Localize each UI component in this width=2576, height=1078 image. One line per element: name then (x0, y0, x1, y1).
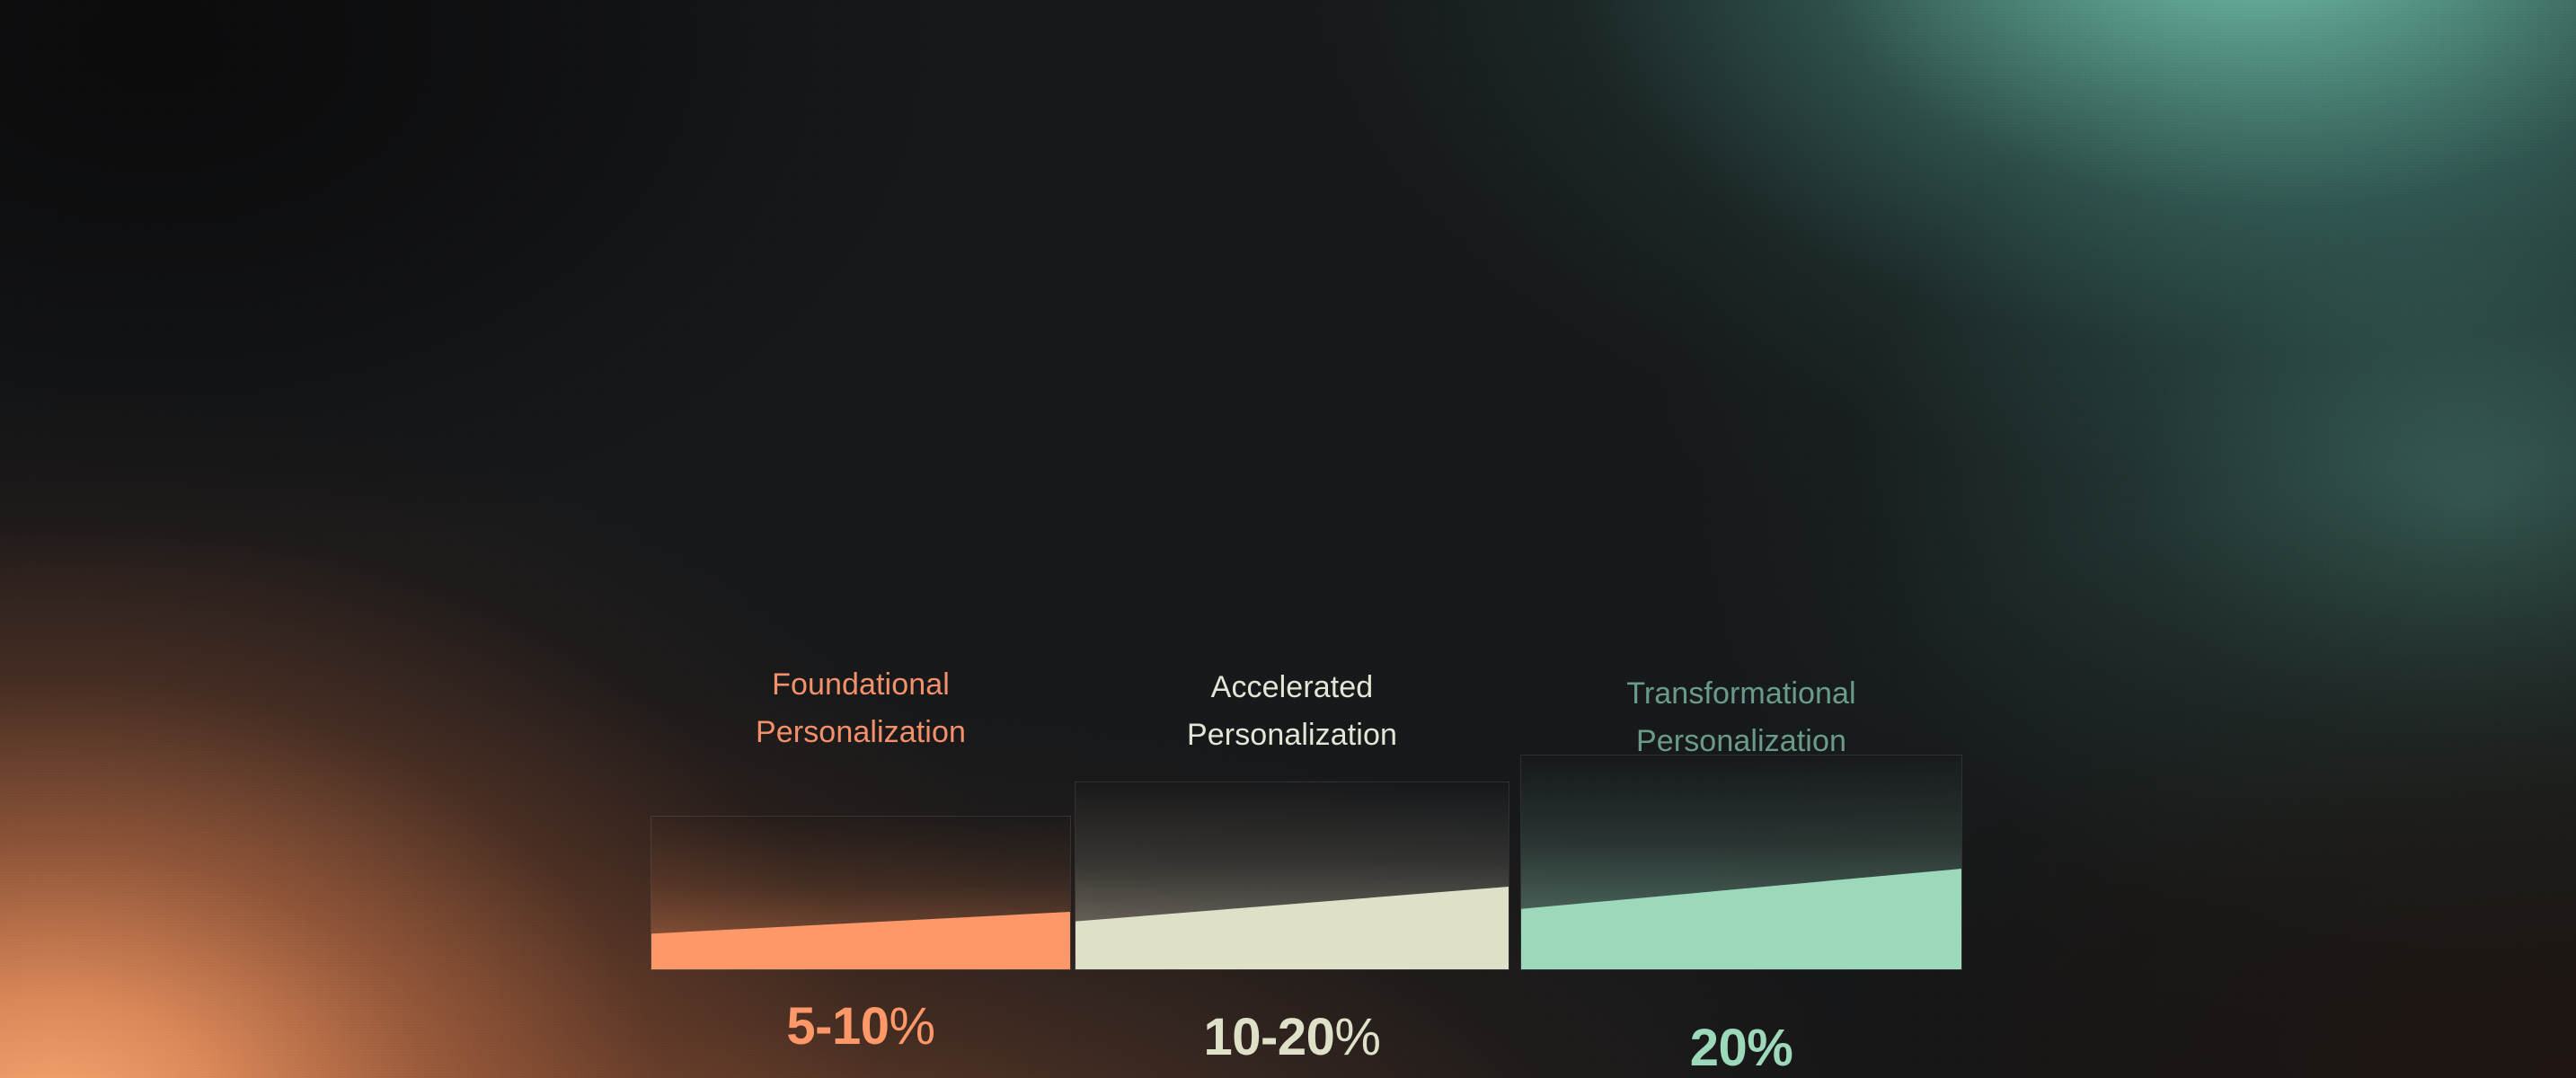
slide-canvas: Foundational Personalization 5-10% Accel… (0, 0, 2576, 1078)
bar-value-number-foundational: 5-10 (786, 997, 889, 1056)
bar-label-transformational: Transformational Personalization (1535, 670, 1948, 765)
bar-fill-foundational (651, 816, 1071, 970)
bar-value-accelerated: 10-20% (1058, 1012, 1526, 1064)
bar-value-foundational: 5-10% (627, 1001, 1094, 1053)
bar-fill-transformational (1520, 755, 1962, 970)
bar-value-number-transformational: 20 (1690, 1019, 1748, 1077)
bar-value-percent-transformational: % (1747, 1019, 1793, 1077)
bar-fill-accelerated (1075, 782, 1509, 970)
bar-value-number-accelerated: 10-20 (1204, 1008, 1335, 1066)
chart-bar-accelerated[interactable]: Accelerated Personalization 10-20% (1075, 641, 1509, 970)
bar-label-accelerated: Accelerated Personalization (1085, 664, 1499, 759)
chart-bar-transformational[interactable]: Transformational Personalization 20% (1520, 641, 1962, 970)
bar-value-percent-accelerated: % (1334, 1008, 1380, 1066)
bar-label-foundational: Foundational Personalization (654, 661, 1067, 756)
personalization-maturity-chart: Foundational Personalization 5-10% Accel… (651, 467, 1962, 970)
bar-value-percent-foundational: % (890, 997, 935, 1056)
bar-value-transformational: 20% (1508, 1022, 1975, 1074)
chart-bar-foundational[interactable]: Foundational Personalization 5-10% (651, 641, 1071, 970)
